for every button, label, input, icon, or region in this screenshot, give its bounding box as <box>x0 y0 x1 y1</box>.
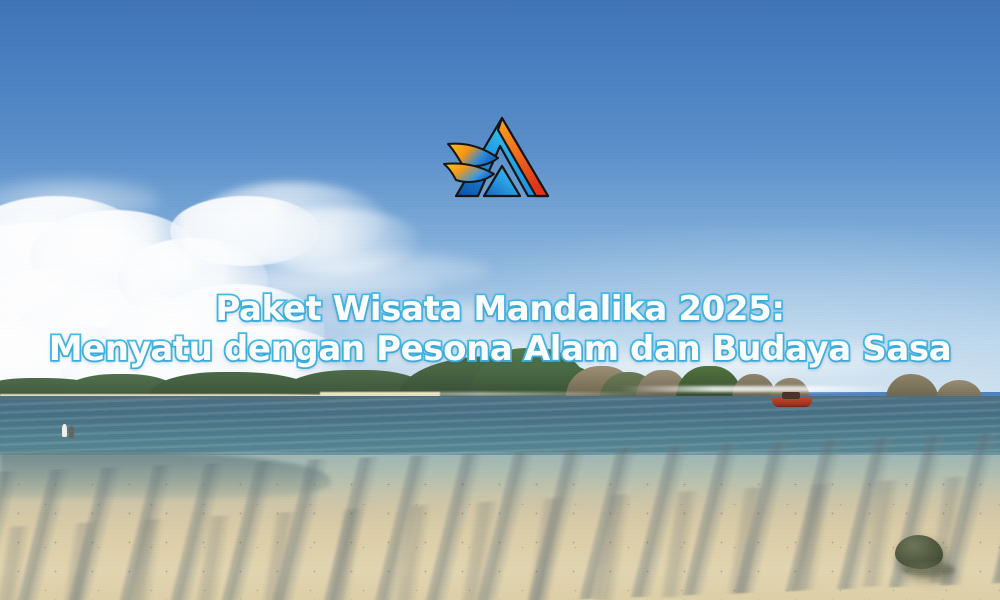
hero-title: Paket Wisata Mandalika 2025: Menyatu den… <box>0 292 1000 366</box>
hero-title-line-2: Menyatu dengan Pesona Alam dan Budaya Sa… <box>0 332 1000 366</box>
hero-banner: Paket Wisata Mandalika 2025: Menyatu den… <box>0 0 1000 600</box>
mossy-rock-shadow <box>903 562 955 576</box>
beach-walker-2 <box>69 426 74 438</box>
hero-title-line-1: Paket Wisata Mandalika 2025: <box>0 292 1000 326</box>
beach-walker-1 <box>62 424 67 437</box>
fishing-boat <box>772 398 812 407</box>
mountain-wave-logo[interactable] <box>440 108 560 208</box>
fishing-boat-cabin <box>782 392 800 399</box>
